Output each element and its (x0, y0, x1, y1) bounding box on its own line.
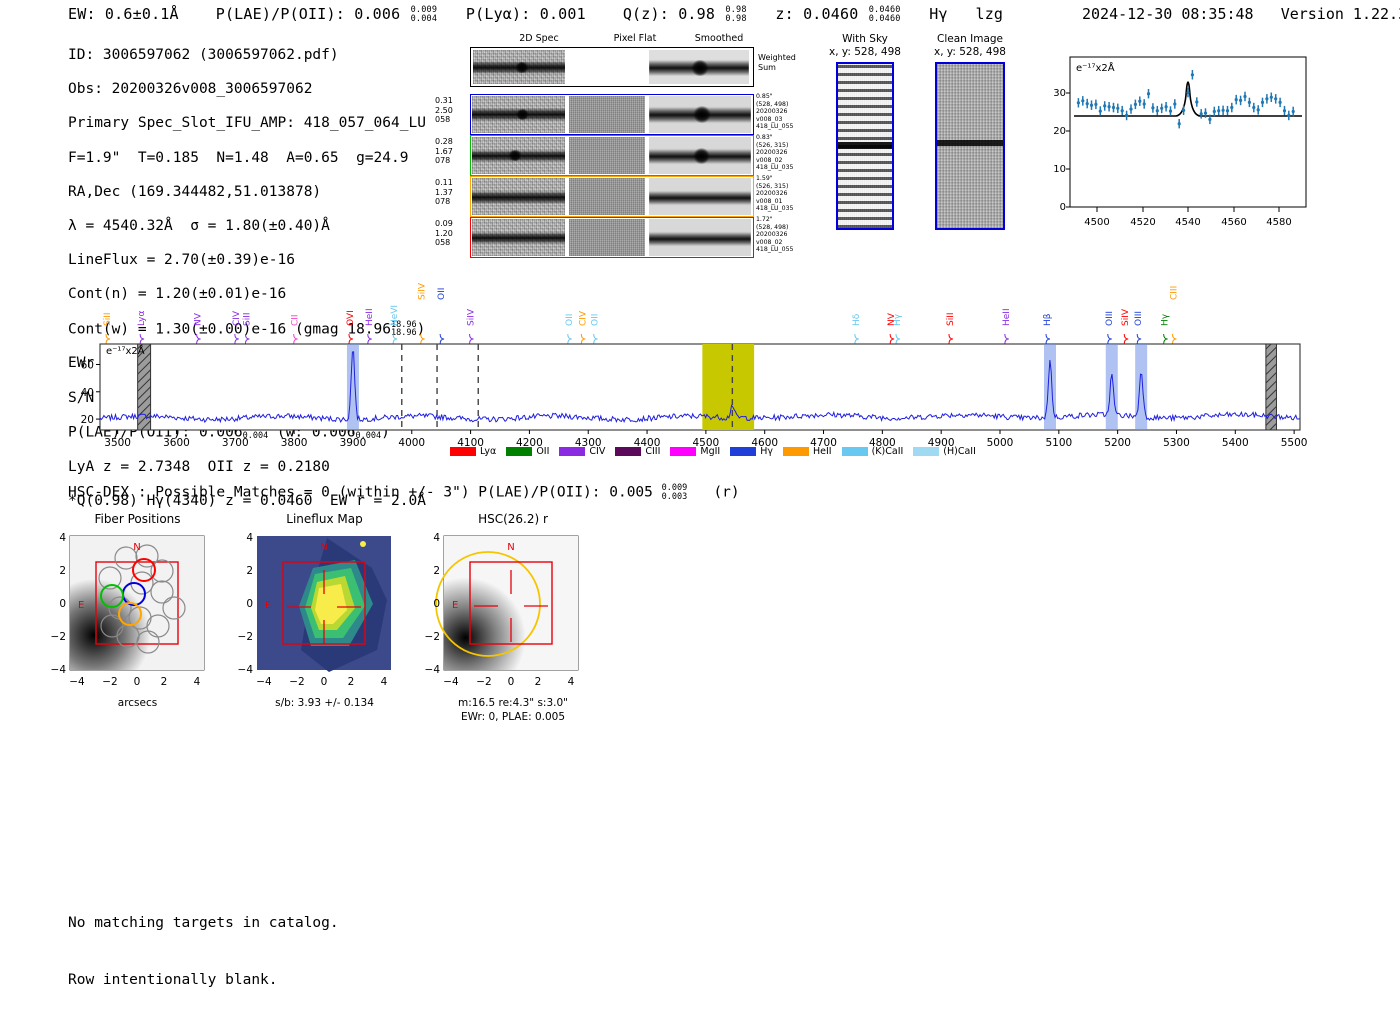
fiber-row-4 (470, 217, 754, 258)
header-summary-line: EW: 0.6±0.1Å P(LAE)/P(OII): 0.006 0.0090… (68, 5, 1003, 23)
clean-image-title: Clean Image (920, 33, 1020, 46)
svg-text:3500: 3500 (104, 437, 131, 449)
legend-label: (H)CaII (943, 446, 976, 457)
svg-text:2: 2 (433, 565, 440, 577)
fiber-row-3 (470, 176, 754, 217)
svg-text:OII: OII (437, 288, 447, 300)
fiber-3-2dspec-image (472, 178, 565, 215)
legend-item: (K)CaII (842, 446, 904, 457)
fiber-4-right-labels: 1.72" (528, 498) 20200326 v008_02 418_LU… (756, 216, 793, 254)
fiber-4-pixelflat-image (569, 219, 645, 256)
svg-text:4540: 4540 (1175, 217, 1200, 228)
info-wavelength: λ = 4540.32Å σ = 1.80(±0.40)Å (68, 218, 426, 235)
svg-text:5400: 5400 (1222, 437, 1249, 449)
header-line-id: Hγ (929, 5, 947, 23)
lineflux-map-svg: N E 420 −2−4 −4−20 24 (237, 530, 412, 710)
svg-text:SiII: SiII (946, 312, 956, 326)
header-qz-value: 0.98 (678, 5, 715, 23)
legend-swatch (559, 447, 585, 456)
svg-text:CII: CII (291, 314, 301, 326)
fiber-2-pixelflat-image (569, 137, 645, 174)
legend-label: CIII (645, 446, 660, 457)
header-timestamp-version: 2024-12-30 08:35:48 Version 1.22.3 (1082, 5, 1400, 23)
weighted-sum-pixelflat-image (569, 50, 645, 84)
svg-text:4500: 4500 (1084, 217, 1109, 228)
legend-label: HeII (813, 446, 832, 457)
svg-text:−4: −4 (425, 664, 441, 676)
legend-label: MgII (700, 446, 720, 457)
legend-item: Hγ (730, 446, 773, 457)
header-plae-range: 0.0090.004 (411, 6, 438, 23)
svg-text:4: 4 (246, 532, 253, 544)
spec2d-panel: 2D Spec Pixel Flat Smoothed Weighted Sum… (462, 33, 762, 261)
svg-text:0: 0 (134, 676, 141, 688)
legend-label: (K)CaII (872, 446, 904, 457)
svg-text:3800: 3800 (281, 437, 308, 449)
footer-line-2: Row intentionally blank. (68, 971, 339, 990)
svg-text:5200: 5200 (1104, 437, 1131, 449)
svg-text:Hγ: Hγ (893, 313, 903, 326)
fiber-4-left-labels: 0.091.20058 (435, 219, 453, 248)
fiber-4-2dspec-image (472, 219, 565, 256)
header-z-range: 0.04600.0460 (869, 6, 901, 23)
svg-text:−4: −4 (69, 676, 85, 688)
clean-image-subtitle: x, y: 528, 498 (920, 46, 1020, 59)
weighted-sum-2dspec-image (473, 50, 565, 84)
with-sky-title: With Sky (822, 33, 908, 46)
fiber-2-right-labels: 0.83" (526, 315) 20200326 v008_02 418_LU… (756, 134, 793, 172)
fiber-1-2dspec-image (472, 96, 565, 133)
header-qz-range: 0.980.98 (725, 6, 746, 23)
svg-text:CIV: CIV (232, 310, 242, 326)
svg-text:CIII: CIII (1169, 286, 1179, 300)
svg-text:Hβ: Hβ (1043, 313, 1053, 326)
svg-text:Hγ: Hγ (1161, 313, 1171, 326)
fiber-1-right-labels: 0.85" (528, 498) 20200326 v008_03 418_LU… (756, 93, 793, 131)
svg-text:−2: −2 (425, 631, 440, 643)
clean-image-pixels (935, 62, 1005, 230)
header-plae-label: P(LAE)/P(OII): (216, 5, 345, 23)
legend-label: OII (536, 446, 549, 457)
header-z-value: 0.0460 (803, 5, 858, 23)
svg-text:4: 4 (433, 532, 440, 544)
header-z-label: z: (775, 5, 793, 23)
svg-text:HeII: HeII (1002, 308, 1012, 326)
svg-text:−2: −2 (51, 631, 66, 643)
legend-item: HeII (783, 446, 832, 457)
line-fit-plot: e⁻¹⁷x2Å 010 2030 45004520 45404560 4580 (1036, 55, 1308, 220)
svg-text:5100: 5100 (1045, 437, 1072, 449)
svg-text:−4: −4 (51, 664, 67, 676)
header-plya: P(Lyα): 0.001 (466, 5, 586, 23)
legend-item: Lyα (450, 446, 496, 457)
svg-text:CIV: CIV (578, 310, 588, 326)
clean-image-panel: Clean Image x, y: 528, 498 (920, 33, 1020, 230)
fiber-positions-xlabel: arcsecs (50, 697, 225, 709)
with-sky-subtitle: x, y: 528, 498 (822, 46, 908, 59)
legend-swatch (615, 447, 641, 456)
hsc-rband-xlabel: m:16.5 re:4.3" s:3.0" (418, 697, 608, 709)
hscdex-text: HSC-DEX : Possible Matches = 0 (within +… (68, 485, 653, 501)
fiber-row-2 (470, 135, 754, 176)
svg-text:HeII: HeII (365, 308, 375, 326)
fiber-positions-east-label: E (78, 600, 84, 611)
legend-swatch (730, 447, 756, 456)
svg-text:4000: 4000 (398, 437, 425, 449)
svg-text:OVI: OVI (346, 310, 356, 326)
svg-text:0: 0 (1060, 202, 1066, 213)
hsc-rband-panel: HSC(26.2) r N E 420 −2−4 −4−20 24 m:16.5… (418, 512, 608, 727)
svg-text:30: 30 (1053, 88, 1066, 99)
legend-swatch (450, 447, 476, 456)
hscdex-plae-range: 0.0090.003 (662, 484, 688, 501)
svg-text:−2: −2 (476, 676, 491, 688)
svg-text:4520: 4520 (1130, 217, 1155, 228)
svg-text:OIII: OIII (1134, 311, 1144, 326)
legend-label: Hγ (760, 446, 773, 457)
fiber-2-left-labels: 0.281.67078 (435, 137, 453, 166)
svg-text:−4: −4 (443, 676, 459, 688)
fiber-1-pixelflat-image (569, 96, 645, 133)
header-ew: EW: 0.6±0.1Å (68, 5, 179, 23)
svg-text:10: 10 (1053, 164, 1066, 175)
svg-text:5000: 5000 (987, 437, 1014, 449)
info-obs: Obs: 20200326v008_3006597062 (68, 81, 426, 98)
svg-text:4: 4 (194, 676, 201, 688)
spectrum-units-annotation: e⁻¹⁷x2Å (106, 344, 145, 357)
svg-text:2: 2 (535, 676, 542, 688)
hscdex-filter: (r) (713, 485, 739, 501)
svg-text:4: 4 (59, 532, 66, 544)
svg-text:SiII: SiII (242, 312, 252, 326)
svg-text:−2: −2 (289, 676, 304, 688)
svg-text:4580: 4580 (1266, 217, 1291, 228)
svg-text:OII: OII (565, 314, 575, 326)
svg-text:4: 4 (568, 676, 575, 688)
fiber-2-2dspec-image (472, 137, 565, 174)
line-fit-svg: e⁻¹⁷x2Å 010 2030 45004520 45404560 4580 (1036, 55, 1308, 255)
svg-text:NV: NV (194, 312, 204, 326)
svg-text:40: 40 (81, 387, 94, 399)
with-sky-image (836, 62, 894, 230)
hsc-rband-title: HSC(26.2) r (418, 512, 608, 526)
info-id: ID: 3006597062 (3006597062.pdf) (68, 47, 426, 64)
legend-swatch (670, 447, 696, 456)
lineflux-north-label: N (320, 542, 327, 553)
svg-text:0: 0 (246, 598, 253, 610)
svg-text:SiIV: SiIV (467, 308, 477, 326)
svg-text:−4: −4 (256, 676, 272, 688)
full-spectrum-panel: SiIILyαNVCIVSiIICIIOVIHeIINeVISiIVSiIVOI… (68, 282, 1318, 472)
line-fit-units-annotation: e⁻¹⁷x2Å (1076, 61, 1115, 74)
fiber-2-smoothed-image (649, 137, 751, 174)
svg-text:3600: 3600 (163, 437, 190, 449)
legend-item: (H)CaII (913, 446, 976, 457)
spec2d-col-smoothed: Smoothed (674, 33, 764, 44)
svg-text:Lyα: Lyα (137, 310, 147, 326)
header-datetime: 2024-12-30 08:35:48 (1082, 5, 1254, 23)
fiber-3-left-labels: 0.111.37078 (435, 178, 453, 207)
svg-text:2: 2 (246, 565, 253, 577)
svg-text:0: 0 (321, 676, 328, 688)
fiber-positions-title: Fiber Positions (50, 512, 225, 526)
svg-text:SiII: SiII (103, 312, 113, 326)
fiber-positions-svg: N E 420 −2−4 −4−20 24 (50, 530, 225, 710)
full-spectrum-svg: SiIILyαNVCIVSiIICIIOVIHeIINeVISiIVSiIVOI… (68, 282, 1318, 472)
hsc-east-label: E (452, 600, 458, 611)
svg-text:5300: 5300 (1163, 437, 1190, 449)
svg-text:4: 4 (381, 676, 388, 688)
fiber-1-smoothed-image (649, 96, 751, 133)
svg-text:OIII: OIII (1105, 311, 1115, 326)
hscdex-summary: HSC-DEX : Possible Matches = 0 (within +… (68, 484, 740, 501)
legend-label: Lyα (480, 446, 496, 457)
legend-item: MgII (670, 446, 720, 457)
legend-swatch (842, 447, 868, 456)
fiber-3-right-labels: 1.59" (526, 315) 20200326 v008_01 418_LU… (756, 175, 793, 213)
fiber-positions-panel: Fiber Positions N E 420 −2−4 (50, 512, 225, 707)
legend-swatch (913, 447, 939, 456)
svg-text:SiIV: SiIV (1121, 308, 1131, 326)
svg-text:0: 0 (508, 676, 515, 688)
header-flags: lzg (975, 5, 1003, 23)
svg-text:0: 0 (59, 598, 66, 610)
svg-text:2: 2 (348, 676, 355, 688)
lineflux-map-xlabel: s/b: 3.93 +/- 0.134 (237, 697, 412, 709)
lineflux-map-panel: Lineflux Map N E 420 −2−4 −4−20 24 s/b: … (237, 512, 412, 712)
legend-item: CIII (615, 446, 660, 457)
svg-text:20: 20 (81, 414, 94, 426)
legend-label: CIV (589, 446, 605, 457)
info-primary-spec: Primary Spec_Slot_IFU_AMP: 418_057_064_L… (68, 115, 426, 132)
svg-text:Hδ: Hδ (852, 313, 862, 326)
svg-text:5500: 5500 (1281, 437, 1308, 449)
lineflux-map-title: Lineflux Map (237, 512, 412, 526)
spec2d-col-pixelflat: Pixel Flat (590, 33, 680, 44)
legend-swatch (506, 447, 532, 456)
hsc-rband-svg: N E 420 −2−4 −4−20 24 (418, 530, 608, 710)
fiber-row-1 (470, 94, 754, 135)
weighted-sum-smoothed-image (649, 50, 749, 84)
header-version: Version 1.22.3 (1281, 5, 1400, 23)
svg-text:2: 2 (59, 565, 66, 577)
svg-text:20: 20 (1053, 126, 1066, 137)
legend-swatch (783, 447, 809, 456)
svg-text:3700: 3700 (222, 437, 249, 449)
svg-text:2: 2 (161, 676, 168, 688)
with-sky-panel: With Sky x, y: 528, 498 (822, 33, 908, 230)
svg-text:−4: −4 (238, 664, 254, 676)
fiber-3-smoothed-image (649, 178, 751, 215)
info-lineflux: LineFlux = 2.70(±0.39)e-16 (68, 252, 426, 269)
spec2d-col-2dspec: 2D Spec (484, 33, 594, 44)
lineflux-east-label: E (265, 600, 271, 611)
header-qz-label: Q(z): (623, 5, 669, 23)
svg-text:NeVI: NeVI (390, 305, 400, 326)
fiber-3-pixelflat-image (569, 178, 645, 215)
legend-item: OII (506, 446, 549, 457)
hsc-north-label: N (507, 542, 514, 553)
weighted-sum-label: Weighted Sum (758, 53, 796, 73)
svg-text:SiIV: SiIV (418, 282, 428, 300)
fiber-1-left-labels: 0.312.50058 (435, 96, 453, 125)
weighted-sum-row (470, 47, 754, 87)
svg-text:3900: 3900 (340, 437, 367, 449)
svg-text:60: 60 (81, 359, 94, 371)
footer-note: No matching targets in catalog. Row inte… (68, 876, 339, 1009)
hsc-rband-ewr-label: EWr: 0, PLAE: 0.005 (418, 711, 608, 723)
svg-text:0: 0 (433, 598, 440, 610)
fiber-positions-north-label: N (133, 542, 140, 553)
info-radec: RA,Dec (169.344482,51.013878) (68, 184, 426, 201)
svg-text:−2: −2 (238, 631, 253, 643)
footer-line-1: No matching targets in catalog. (68, 914, 339, 933)
legend-item: CIV (559, 446, 605, 457)
svg-text:−2: −2 (102, 676, 117, 688)
svg-text:OII: OII (591, 314, 601, 326)
info-seeing: F=1.9" T=0.185 N=1.48 A=0.65 g=24.9 (68, 150, 426, 167)
spectrum-legend: LyαOIICIVCIIIMgIIHγHeII(K)CaII(H)CaII (450, 446, 986, 457)
header-plae-value: 0.006 (354, 5, 400, 23)
fiber-4-smoothed-image (649, 219, 751, 256)
svg-text:4560: 4560 (1221, 217, 1246, 228)
